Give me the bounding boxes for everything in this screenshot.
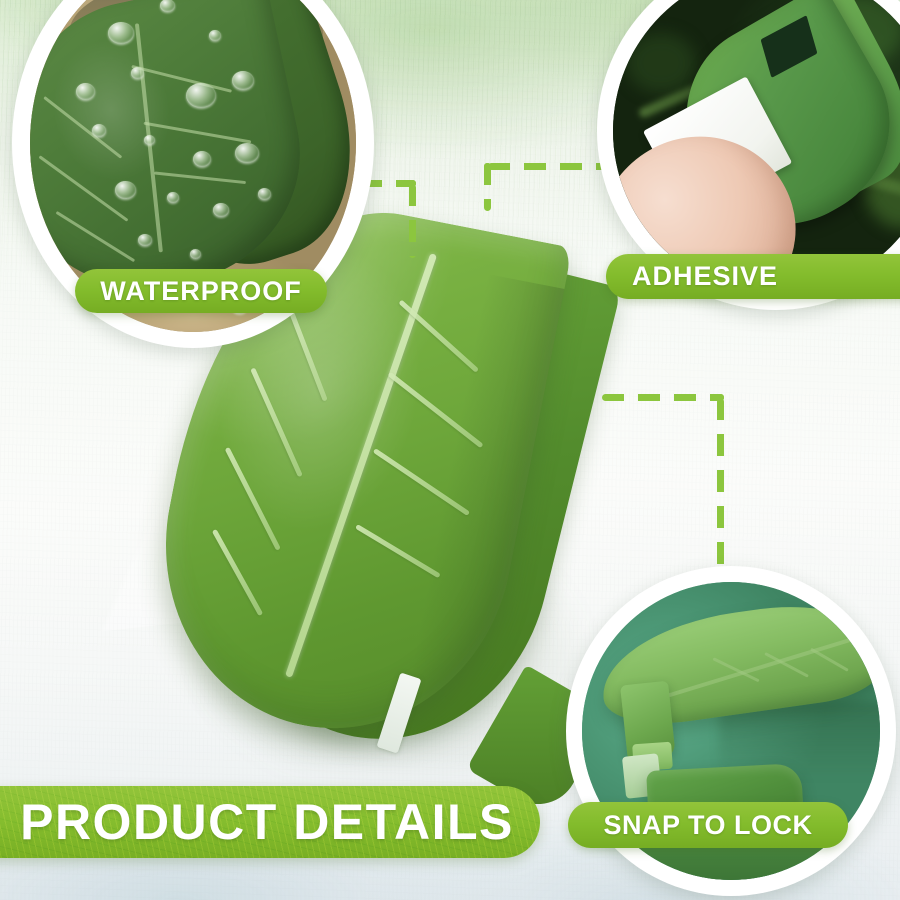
water-droplet-icon (138, 234, 152, 246)
adhesive-bokeh-3 (626, 33, 696, 93)
waterproof-vein-4 (44, 96, 123, 158)
leaf-vein-left-2 (251, 367, 303, 476)
connector-snap-vertical (717, 398, 724, 574)
infographic-canvas: WATERPROOF ADHESIVE (0, 0, 900, 900)
waterproof-leaf-front (30, 0, 324, 313)
connector-adhesive-horizontal (488, 163, 606, 170)
callout-label-snap-to-lock: SNAP TO LOCK (568, 802, 848, 848)
water-droplet-icon (190, 249, 201, 259)
water-droplet-icon (167, 192, 179, 203)
water-droplet-icon (186, 83, 216, 108)
connector-snap-horizontal (602, 394, 724, 401)
leaf-vein-left-4 (212, 529, 263, 616)
leaf-vein-right-4 (355, 524, 441, 578)
leaf-vein-right-3 (373, 448, 470, 516)
adhesive-photo-bg (613, 0, 900, 294)
callout-label-adhesive: ADHESIVE (606, 254, 900, 299)
water-droplet-icon (193, 151, 211, 167)
waterproof-label-text: WATERPROOF (100, 276, 302, 307)
callout-label-waterproof: WATERPROOF (75, 269, 327, 313)
water-droplet-icon (76, 83, 95, 100)
leaf-vein-left-3 (225, 447, 281, 551)
snap-lid-vein-3 (810, 647, 849, 671)
product-details-banner: PRODUCT DETAILS (0, 786, 540, 858)
adhesive-photo (613, 0, 900, 294)
water-droplet-icon (209, 30, 221, 41)
connector-adhesive-vertical (484, 163, 491, 211)
water-droplet-icon (115, 181, 136, 199)
waterproof-vein-2 (144, 122, 252, 144)
leaf-vein-right-1 (398, 300, 478, 373)
water-droplet-icon (213, 203, 229, 217)
water-droplet-icon (92, 124, 106, 137)
connector-waterproof-vertical (409, 184, 416, 258)
snap-lid-midrib (645, 635, 860, 704)
adhesive-label-text: ADHESIVE (632, 261, 778, 292)
waterproof-vein-1 (131, 66, 232, 94)
product-details-title: PRODUCT DETAILS (20, 793, 514, 851)
snap-label-text: SNAP TO LOCK (603, 810, 812, 841)
waterproof-vein-3 (154, 172, 246, 185)
leaf-vein-right-2 (388, 372, 484, 448)
